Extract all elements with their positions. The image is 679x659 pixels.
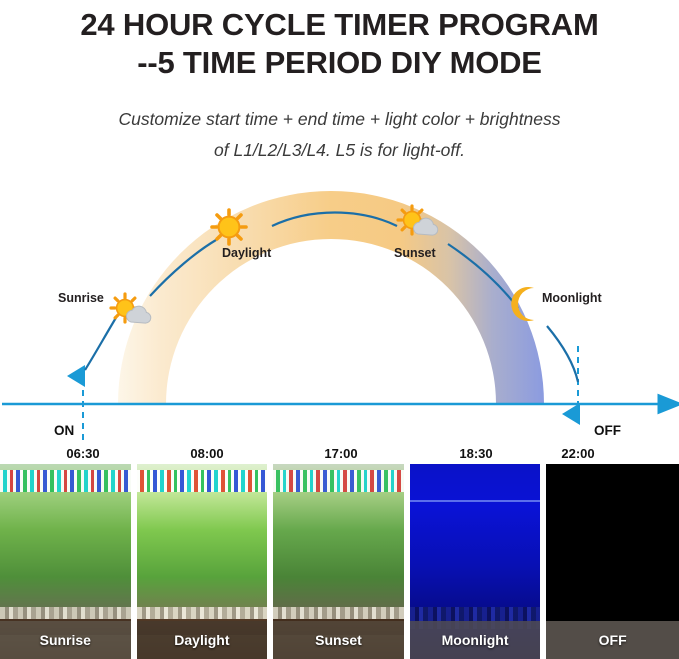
gallery-caption-off: OFF [546, 621, 679, 659]
phase-label-daylight: Daylight [222, 246, 271, 260]
connector-moonlight-to-off [547, 326, 578, 382]
tick-label-3: 18:30 [459, 446, 492, 461]
day-cycle-arc [118, 191, 544, 404]
gallery-caption-sunset: Sunset [273, 621, 404, 659]
phase-label-sunrise: Sunrise [58, 291, 104, 305]
led-light-bar [273, 470, 404, 492]
phase-label-sunset: Sunset [394, 246, 436, 260]
gallery-caption-daylight: Daylight [137, 621, 268, 659]
gallery-item-moonlight[interactable]: Moonlight [410, 464, 541, 659]
title-line-2: --5 TIME PERIOD DIY MODE [0, 44, 679, 82]
tick-label-1: 08:00 [190, 446, 223, 461]
gallery-caption-sunrise: Sunrise [0, 621, 131, 659]
led-light-bar [0, 470, 131, 492]
off-label: OFF [594, 423, 621, 438]
tick-label-0: 06:30 [66, 446, 99, 461]
title-line-1: 24 HOUR CYCLE TIMER PROGRAM [0, 6, 679, 44]
tick-label-2: 17:00 [324, 446, 357, 461]
tick-label-4: 22:00 [561, 446, 594, 461]
sun-icon [212, 210, 246, 244]
gallery-item-sunrise[interactable]: Sunrise [0, 464, 131, 659]
gallery-item-sunset[interactable]: Sunset [273, 464, 404, 659]
mode-gallery: Sunrise Daylight Sunset [0, 464, 679, 659]
subtitle-line-1: Customize start time + end time + light … [0, 104, 679, 135]
phase-label-moonlight: Moonlight [542, 291, 602, 305]
infographic-page: 24 HOUR CYCLE TIMER PROGRAM --5 TIME PER… [0, 0, 679, 659]
gallery-item-off[interactable]: OFF [546, 464, 679, 659]
sun-behind-cloud-icon [111, 294, 151, 323]
led-light-bar [137, 470, 268, 492]
page-title: 24 HOUR CYCLE TIMER PROGRAM --5 TIME PER… [0, 0, 679, 82]
cycle-diagram: Sunrise Daylight Sunset Moonlight ON OFF… [0, 186, 679, 464]
gallery-caption-moonlight: Moonlight [410, 621, 541, 659]
gallery-item-daylight[interactable]: Daylight [137, 464, 268, 659]
connector-on-to-sunrise [85, 316, 117, 370]
diagram-canvas [0, 186, 679, 464]
on-label: ON [54, 423, 74, 438]
page-subtitle: Customize start time + end time + light … [0, 104, 679, 166]
subtitle-line-2: of L1/L2/L3/L4. L5 is for light-off. [0, 135, 679, 166]
